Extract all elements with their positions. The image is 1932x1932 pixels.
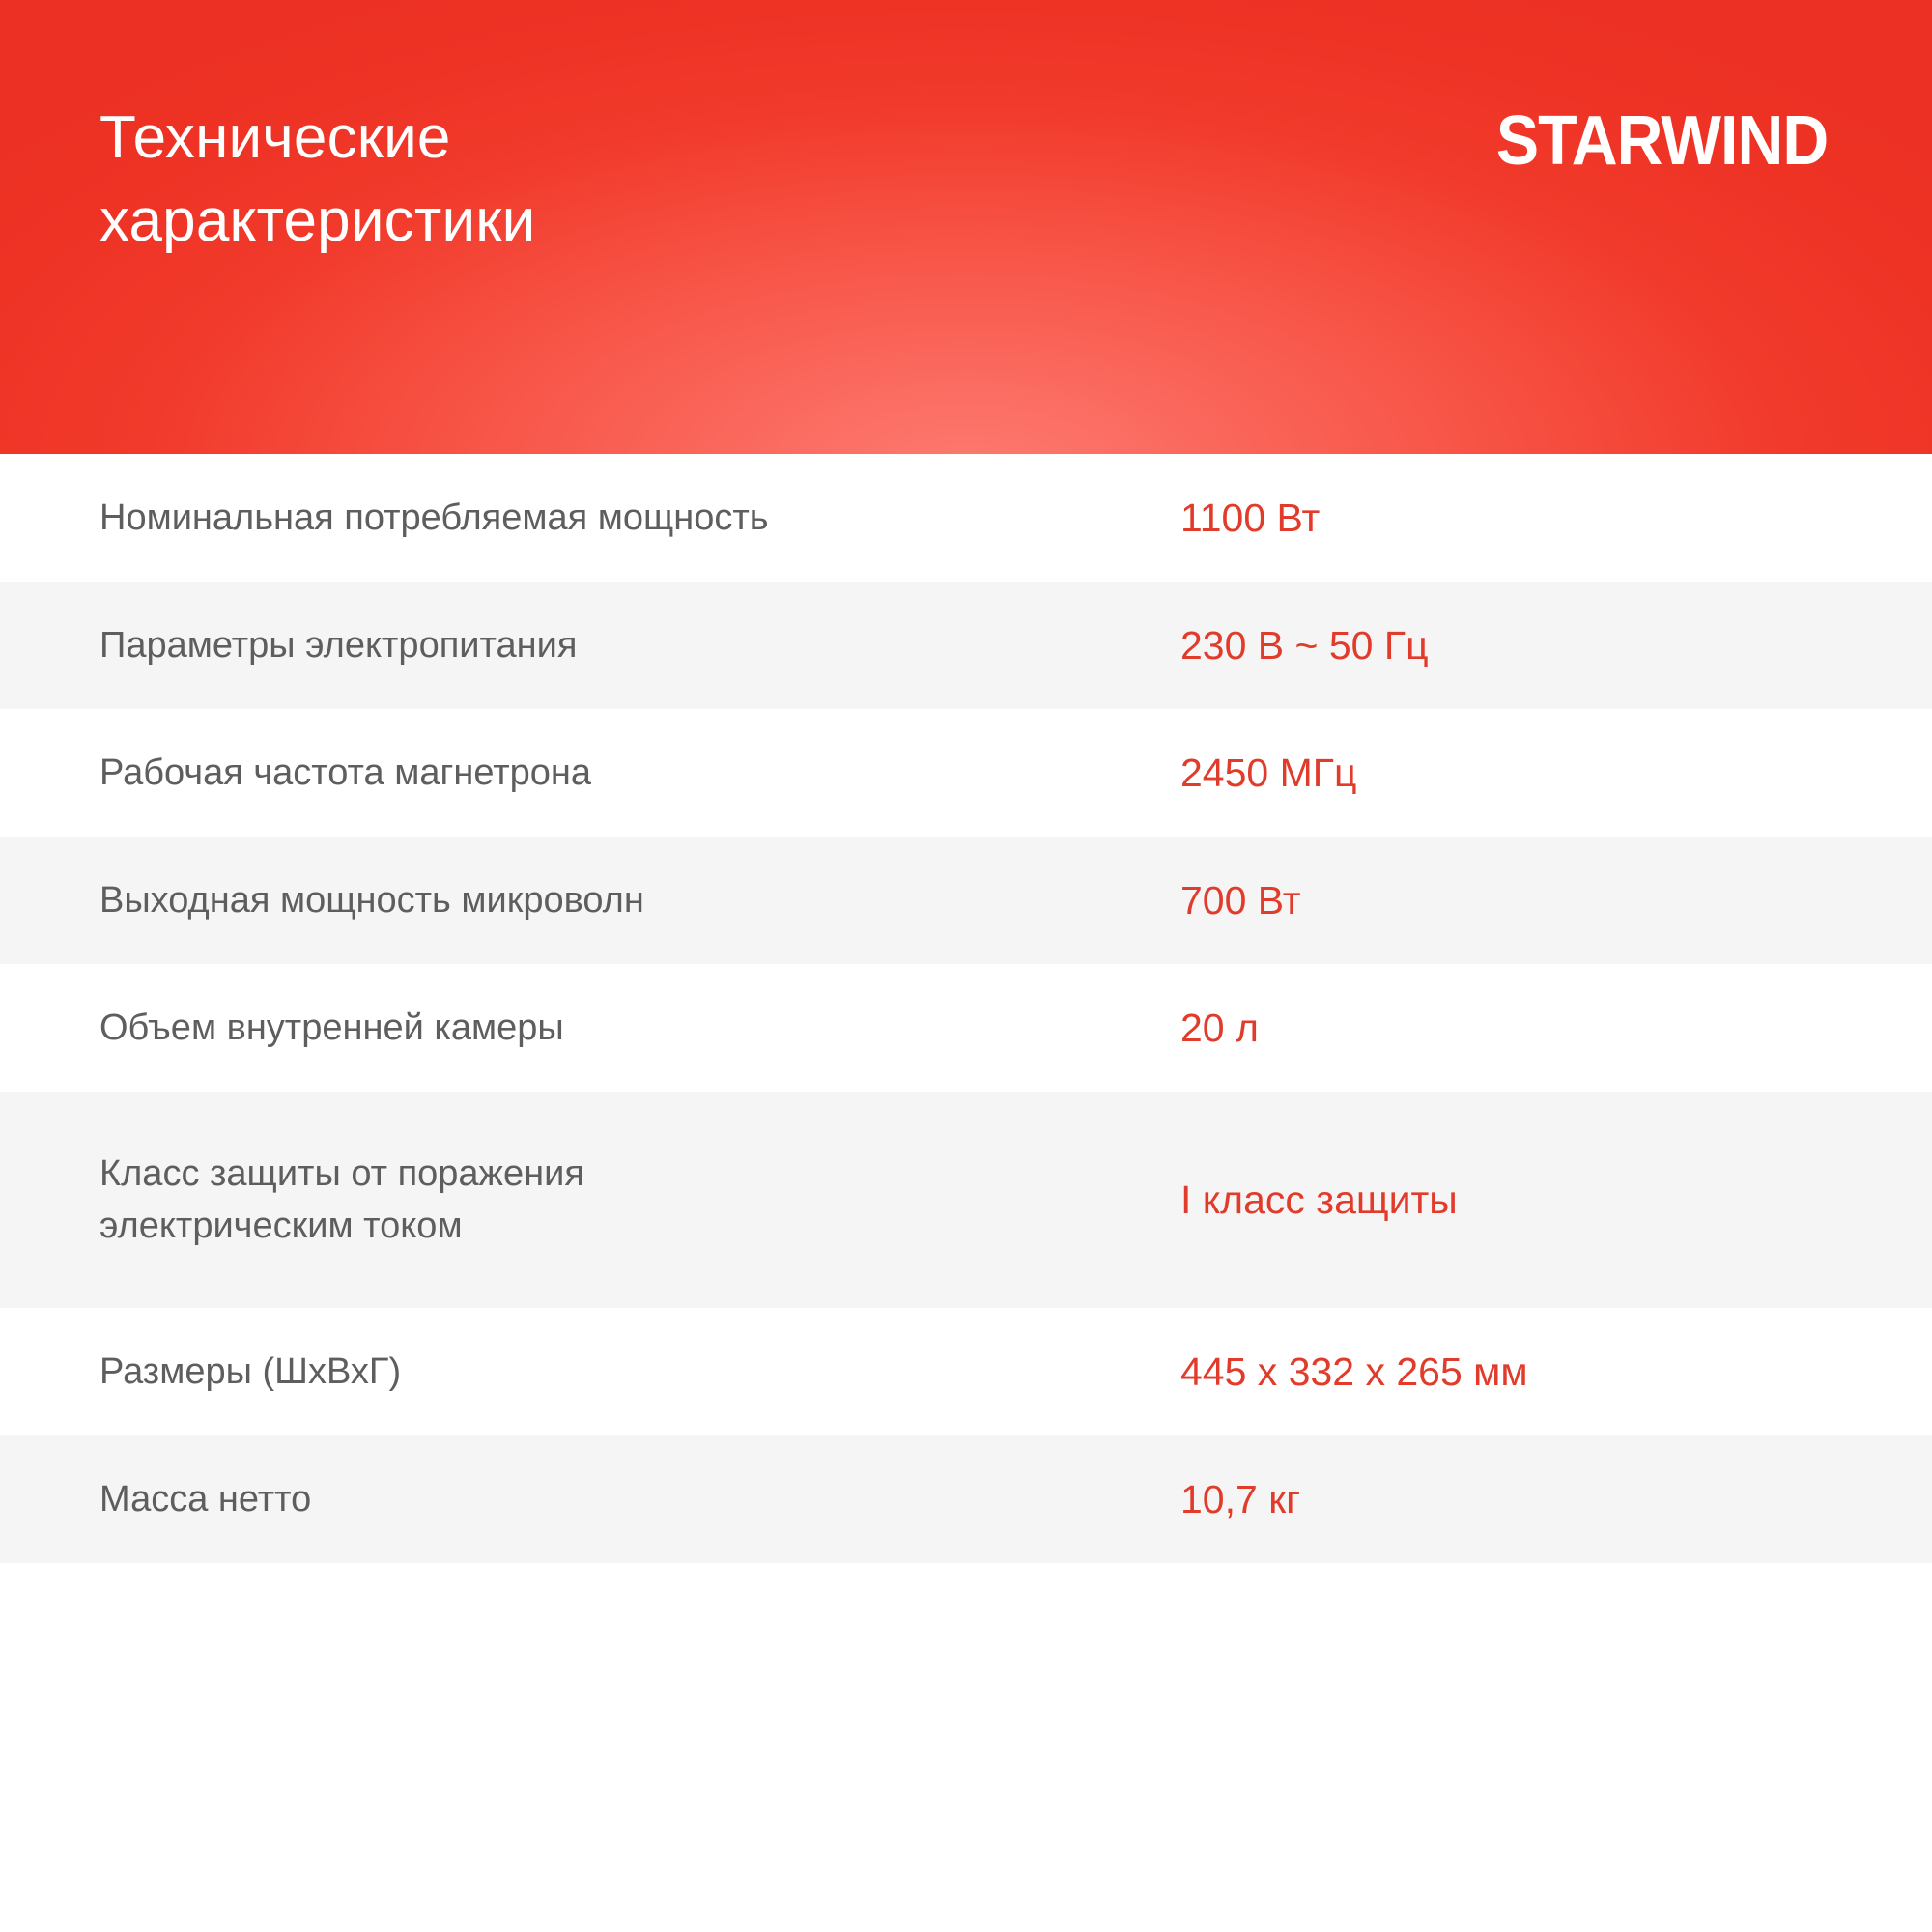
specifications-table: Номинальная потребляемая мощность1100 Вт…	[0, 454, 1932, 1563]
spec-label: Номинальная потребляемая мощность	[0, 492, 1180, 544]
spec-label: Размеры (ШхВхГ)	[0, 1346, 1180, 1398]
spec-label: Объем внутренней камеры	[0, 1002, 1180, 1054]
table-row: Номинальная потребляемая мощность1100 Вт	[0, 454, 1932, 582]
spec-label: Класс защиты от поражения электрическим …	[0, 1148, 1180, 1252]
table-row: Масса нетто10,7 кг	[0, 1435, 1932, 1563]
spec-value: 2450 МГц	[1180, 747, 1932, 799]
spec-label: Масса нетто	[0, 1473, 1180, 1525]
spec-label: Выходная мощность микроволн	[0, 874, 1180, 926]
spec-label: Параметры электропитания	[0, 619, 1180, 671]
table-row: Рабочая частота магнетрона2450 МГц	[0, 709, 1932, 837]
table-row: Размеры (ШхВхГ)445 х 332 х 265 мм	[0, 1308, 1932, 1435]
table-row: Класс защиты от поражения электрическим …	[0, 1092, 1932, 1308]
table-row: Параметры электропитания230 В ~ 50 Гц	[0, 582, 1932, 709]
spec-value: 230 В ~ 50 Гц	[1180, 619, 1932, 671]
spec-value: 700 Вт	[1180, 874, 1932, 926]
table-row: Объем внутренней камеры20 л	[0, 964, 1932, 1092]
spec-value: 10,7 кг	[1180, 1473, 1932, 1525]
spec-value: I класс защиты	[1180, 1174, 1932, 1226]
spec-value: 1100 Вт	[1180, 492, 1932, 544]
spec-value: 20 л	[1180, 1002, 1932, 1054]
starwind-logo: STARWIND	[1496, 100, 1828, 182]
spec-sheet-page: Технические характеристики STARWIND Номи…	[0, 0, 1932, 1932]
header-banner: Технические характеристики STARWIND	[0, 0, 1932, 454]
spec-label: Рабочая частота магнетрона	[0, 747, 1180, 799]
spec-value: 445 х 332 х 265 мм	[1180, 1346, 1932, 1398]
table-row: Выходная мощность микроволн700 Вт	[0, 837, 1932, 964]
page-title: Технические характеристики	[99, 97, 969, 263]
